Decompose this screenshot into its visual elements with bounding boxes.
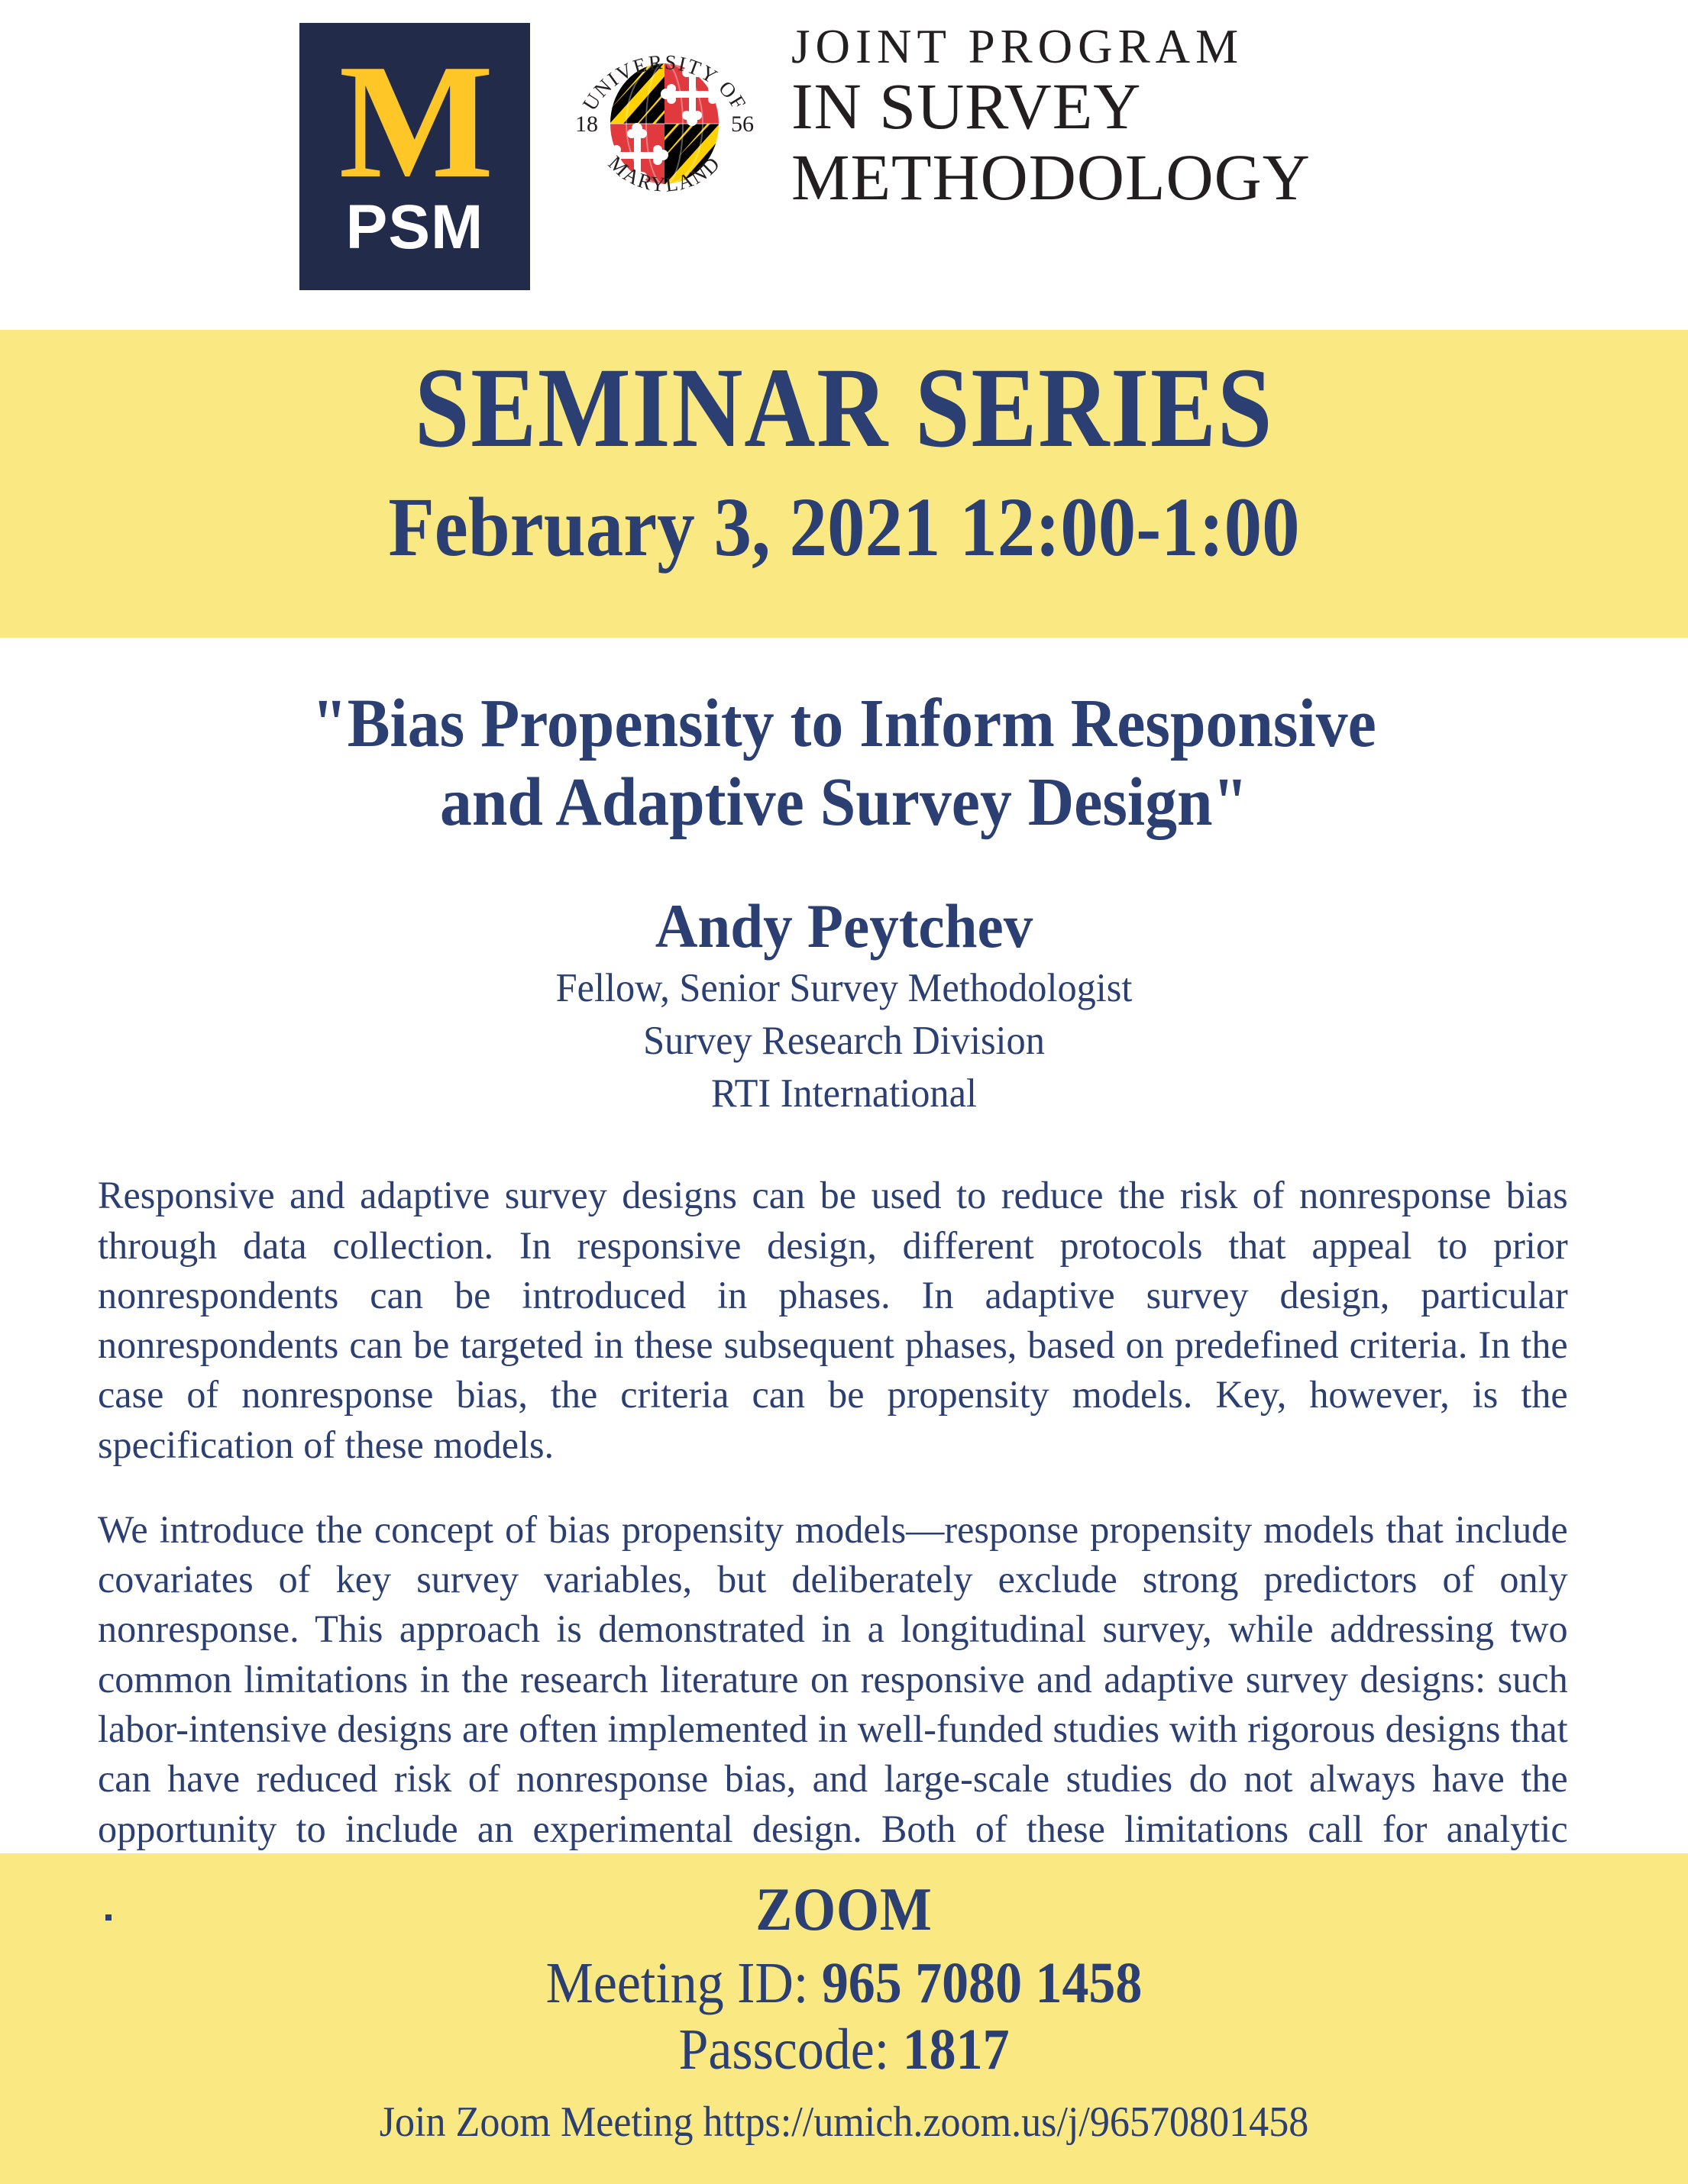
seminar-date-time: February 3, 2021 12:00-1:00 bbox=[85, 483, 1604, 572]
abstract-body: Responsive and adaptive survey designs c… bbox=[98, 1171, 1590, 1905]
program-wordmark-line-2: IN SURVEY bbox=[791, 71, 1311, 142]
header-logo-bar: M PSM bbox=[0, 0, 1688, 330]
zoom-passcode-value: 1817 bbox=[903, 2018, 1010, 2082]
abstract-paragraph-1: Responsive and adaptive survey designs c… bbox=[98, 1171, 1568, 1471]
talk-title-line-1: "Bias Propensity to Inform Responsive bbox=[150, 685, 1538, 764]
zoom-meeting-id-value: 965 7080 1458 bbox=[822, 1951, 1143, 2015]
umd-seal-icon: UNIVERSITY OF MARYLAND 18 56 bbox=[573, 26, 756, 209]
speaker-division: Survey Research Division bbox=[135, 1016, 1553, 1066]
michigan-psm-logo: M PSM bbox=[299, 23, 530, 290]
speaker-organization: RTI International bbox=[135, 1069, 1553, 1119]
speaker-name: Andy Peytchev bbox=[143, 892, 1546, 961]
zoom-meeting-id-label: Meeting ID: bbox=[546, 1951, 822, 2015]
program-wordmark: JOINT PROGRAM IN SURVEY METHODOLOGY bbox=[791, 23, 1311, 213]
psm-wordmark: PSM bbox=[346, 196, 484, 259]
svg-text:56: 56 bbox=[731, 111, 754, 137]
talk-title: "Bias Propensity to Inform Responsive an… bbox=[150, 685, 1538, 842]
speaker-block: Andy Peytchev Fellow, Senior Survey Meth… bbox=[98, 892, 1590, 1118]
seminar-series-title: SEMINAR SERIES bbox=[118, 350, 1570, 467]
zoom-heading: ZOOM bbox=[85, 1879, 1604, 1940]
svg-text:18: 18 bbox=[575, 111, 598, 137]
michigan-block-m-icon: M bbox=[339, 54, 491, 189]
program-wordmark-line-1: JOINT PROGRAM bbox=[791, 23, 1311, 71]
zoom-meeting-id-line: Meeting ID: 965 7080 1458 bbox=[67, 1951, 1620, 2016]
zoom-footer: ZOOM Meeting ID: 965 7080 1458 Passcode:… bbox=[0, 1853, 1688, 2184]
main-content: "Bias Propensity to Inform Responsive an… bbox=[0, 685, 1688, 1905]
zoom-passcode-label: Passcode: bbox=[678, 2018, 902, 2082]
speaker-title: Fellow, Senior Survey Methodologist bbox=[135, 964, 1553, 1013]
university-of-maryland-seal: UNIVERSITY OF MARYLAND 18 56 bbox=[573, 26, 756, 209]
abstract-paragraph-2: We introduce the concept of bias propens… bbox=[98, 1506, 1568, 1905]
zoom-join-link[interactable]: Join Zoom Meeting https://umich.zoom.us/… bbox=[59, 2099, 1628, 2147]
talk-title-line-2: and Adaptive Survey Design" bbox=[150, 764, 1538, 842]
program-wordmark-line-3: METHODOLOGY bbox=[791, 142, 1311, 213]
zoom-passcode-line: Passcode: 1817 bbox=[67, 2018, 1620, 2082]
seminar-banner: SEMINAR SERIES February 3, 2021 12:00-1:… bbox=[0, 330, 1688, 638]
